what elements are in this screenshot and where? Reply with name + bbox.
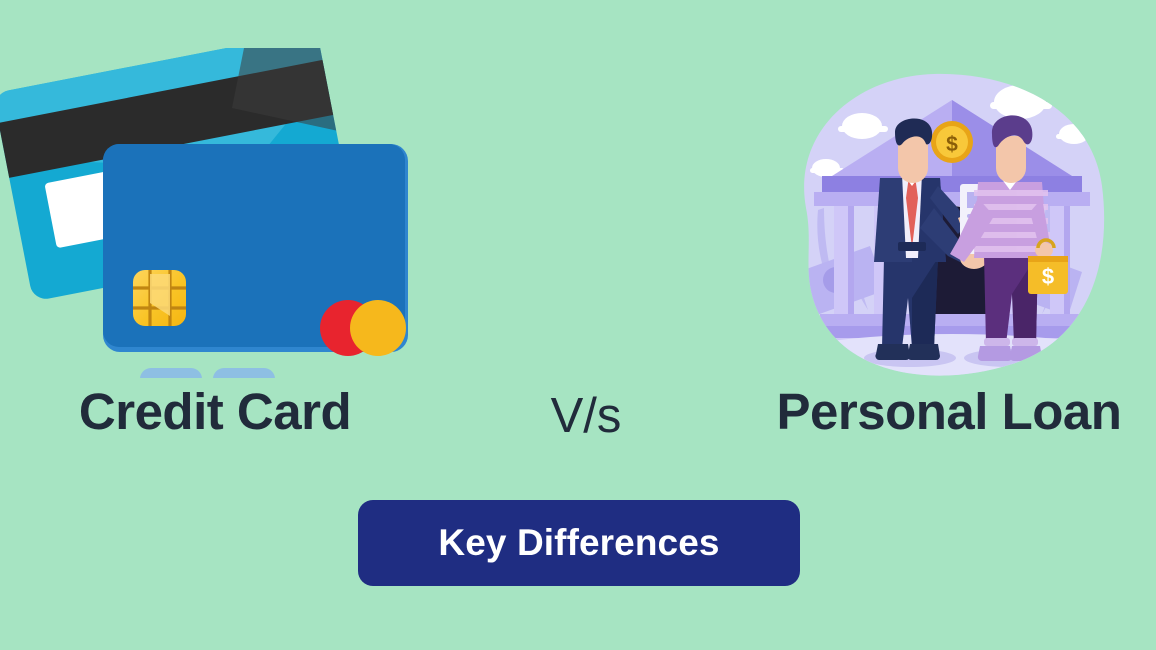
bank-loan-illustration: $ [762,58,1122,390]
svg-text:$: $ [946,133,958,156]
credit-cards-illustration [0,48,440,378]
comparison-infographic: $ [0,0,1156,650]
credit-card-label: Credit Card [0,386,430,437]
card-number-pills [140,368,275,378]
svg-text:$: $ [1042,264,1054,289]
personal-loan-label: Personal Loan [742,386,1156,437]
key-differences-button[interactable]: Key Differences [358,500,800,586]
front-card [103,144,408,378]
card-brand-logo [320,300,406,356]
versus-label: V/s [430,392,742,441]
dollar-coin-icon: $ [931,121,973,163]
card-chip [133,270,186,326]
